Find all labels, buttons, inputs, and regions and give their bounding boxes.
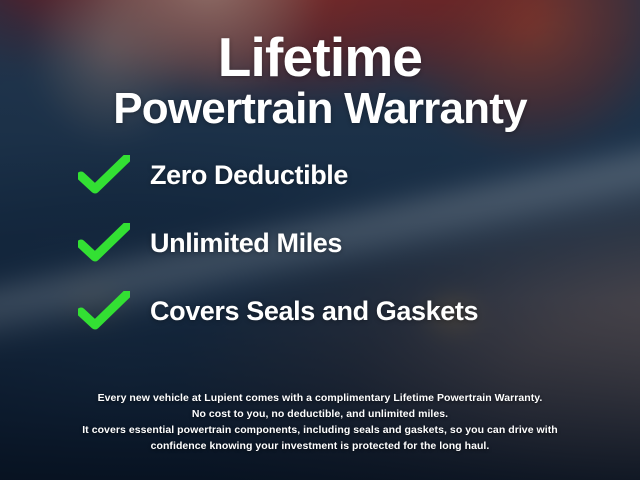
headline-line-1: Lifetime: [0, 28, 640, 86]
feature-item-zero-deductible: Zero Deductible: [78, 154, 640, 196]
check-icon: [78, 291, 130, 331]
description-block: Every new vehicle at Lupient comes with …: [0, 390, 640, 480]
description-line-2: No cost to you, no deductible, and unlim…: [26, 406, 614, 422]
feature-label: Unlimited Miles: [150, 228, 342, 259]
headline-line-2: Powertrain Warranty: [0, 84, 640, 134]
feature-item-covers-seals-and-gaskets: Covers Seals and Gaskets: [78, 290, 640, 332]
banner-content: Lifetime Powertrain Warranty Zero Deduct…: [0, 0, 640, 480]
feature-label: Zero Deductible: [150, 160, 348, 191]
feature-label: Covers Seals and Gaskets: [150, 296, 478, 327]
description-line-3: It covers essential powertrain component…: [26, 422, 614, 438]
description-line-1: Every new vehicle at Lupient comes with …: [26, 390, 614, 406]
check-icon: [78, 223, 130, 263]
description-line-4: confidence knowing your investment is pr…: [26, 438, 614, 454]
check-icon: [78, 155, 130, 195]
lifetime-powertrain-warranty-banner: Lifetime Powertrain Warranty Zero Deduct…: [0, 0, 640, 480]
feature-item-unlimited-miles: Unlimited Miles: [78, 222, 640, 264]
headline: Lifetime Powertrain Warranty: [0, 0, 640, 134]
feature-list: Zero Deductible Unlimited Miles Covers S…: [0, 154, 640, 332]
